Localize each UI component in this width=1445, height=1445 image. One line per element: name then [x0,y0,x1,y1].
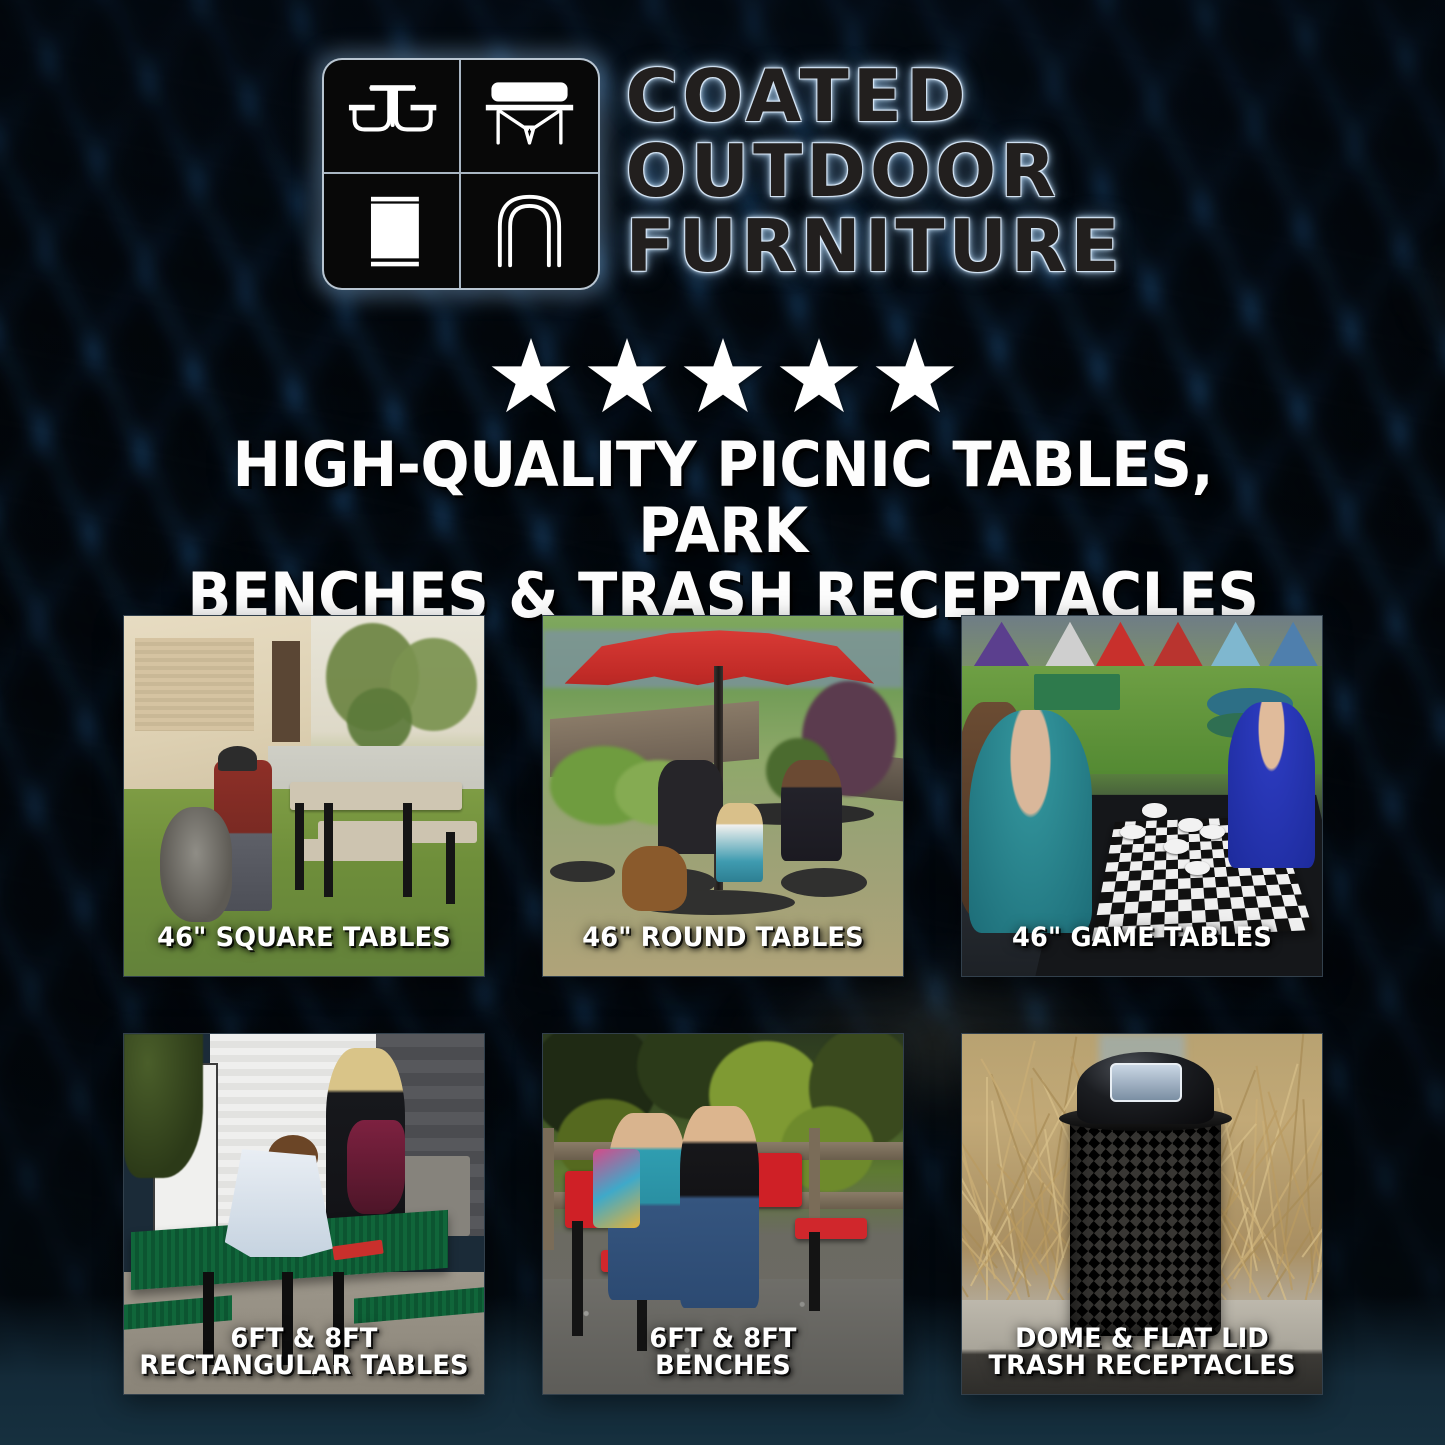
page-title-line-1: HIGH-QUALITY PICNIC TABLES, PARK [151,432,1295,563]
brand-wordmark-line-3: FURNITURE [626,212,1124,281]
product-tile-benches[interactable]: 6FT & 8FT BENCHES [542,1033,904,1395]
star-rating [0,338,1445,416]
caption-line: 6FT & 8FT [552,1325,894,1353]
star-icon [874,338,956,416]
product-caption-rectangular-tables: 6FT & 8FT RECTANGULAR TABLES [124,1325,484,1380]
park-bench-icon [461,60,598,174]
product-tile-trash-receptacles[interactable]: DOME & FLAT LID TRASH RECEPTACLES [961,1033,1323,1395]
star-icon [682,338,764,416]
caption-line: 46" SQUARE TABLES [133,924,475,952]
trash-receptacle-icon [324,174,461,288]
product-caption-game-tables: 46" GAME TABLES [962,924,1322,952]
caption-line: 46" ROUND TABLES [552,924,894,952]
product-tile-square-tables[interactable]: 46" SQUARE TABLES [123,615,485,977]
logo-icon-grid [322,58,600,290]
star-icon [490,338,572,416]
brand-wordmark: COATED OUTDOOR FURNITURE [626,58,1124,281]
star-icon [778,338,860,416]
caption-line: TRASH RECEPTACLES [971,1352,1313,1380]
brand-logo: COATED OUTDOOR FURNITURE [0,58,1445,290]
brand-wordmark-line-1: COATED [626,62,1124,131]
product-tile-rectangular-tables[interactable]: 6FT & 8FT RECTANGULAR TABLES [123,1033,485,1395]
product-caption-trash-receptacles: DOME & FLAT LID TRASH RECEPTACLES [962,1325,1322,1380]
caption-line: RECTANGULAR TABLES [133,1352,475,1380]
square-picnic-table-icon [324,60,461,174]
promo-banner: COATED OUTDOOR FURNITURE HIGH-QUALITY PI… [0,0,1445,1445]
caption-line: DOME & FLAT LID [971,1325,1313,1353]
product-tile-game-tables[interactable]: 46" GAME TABLES [961,615,1323,977]
product-tile-round-tables[interactable]: 46" ROUND TABLES [542,615,904,977]
product-grid: 46" SQUARE TABLES [123,615,1325,1395]
page-title: HIGH-QUALITY PICNIC TABLES, PARK BENCHES… [108,432,1338,629]
brand-wordmark-line-2: OUTDOOR [626,137,1124,206]
caption-line: BENCHES [552,1352,894,1380]
caption-line: 46" GAME TABLES [971,924,1313,952]
product-caption-benches: 6FT & 8FT BENCHES [543,1325,903,1380]
caption-line: 6FT & 8FT [133,1325,475,1353]
dome-lid-icon [461,174,598,288]
product-caption-square-tables: 46" SQUARE TABLES [124,924,484,952]
star-icon [586,338,668,416]
product-caption-round-tables: 46" ROUND TABLES [543,924,903,952]
